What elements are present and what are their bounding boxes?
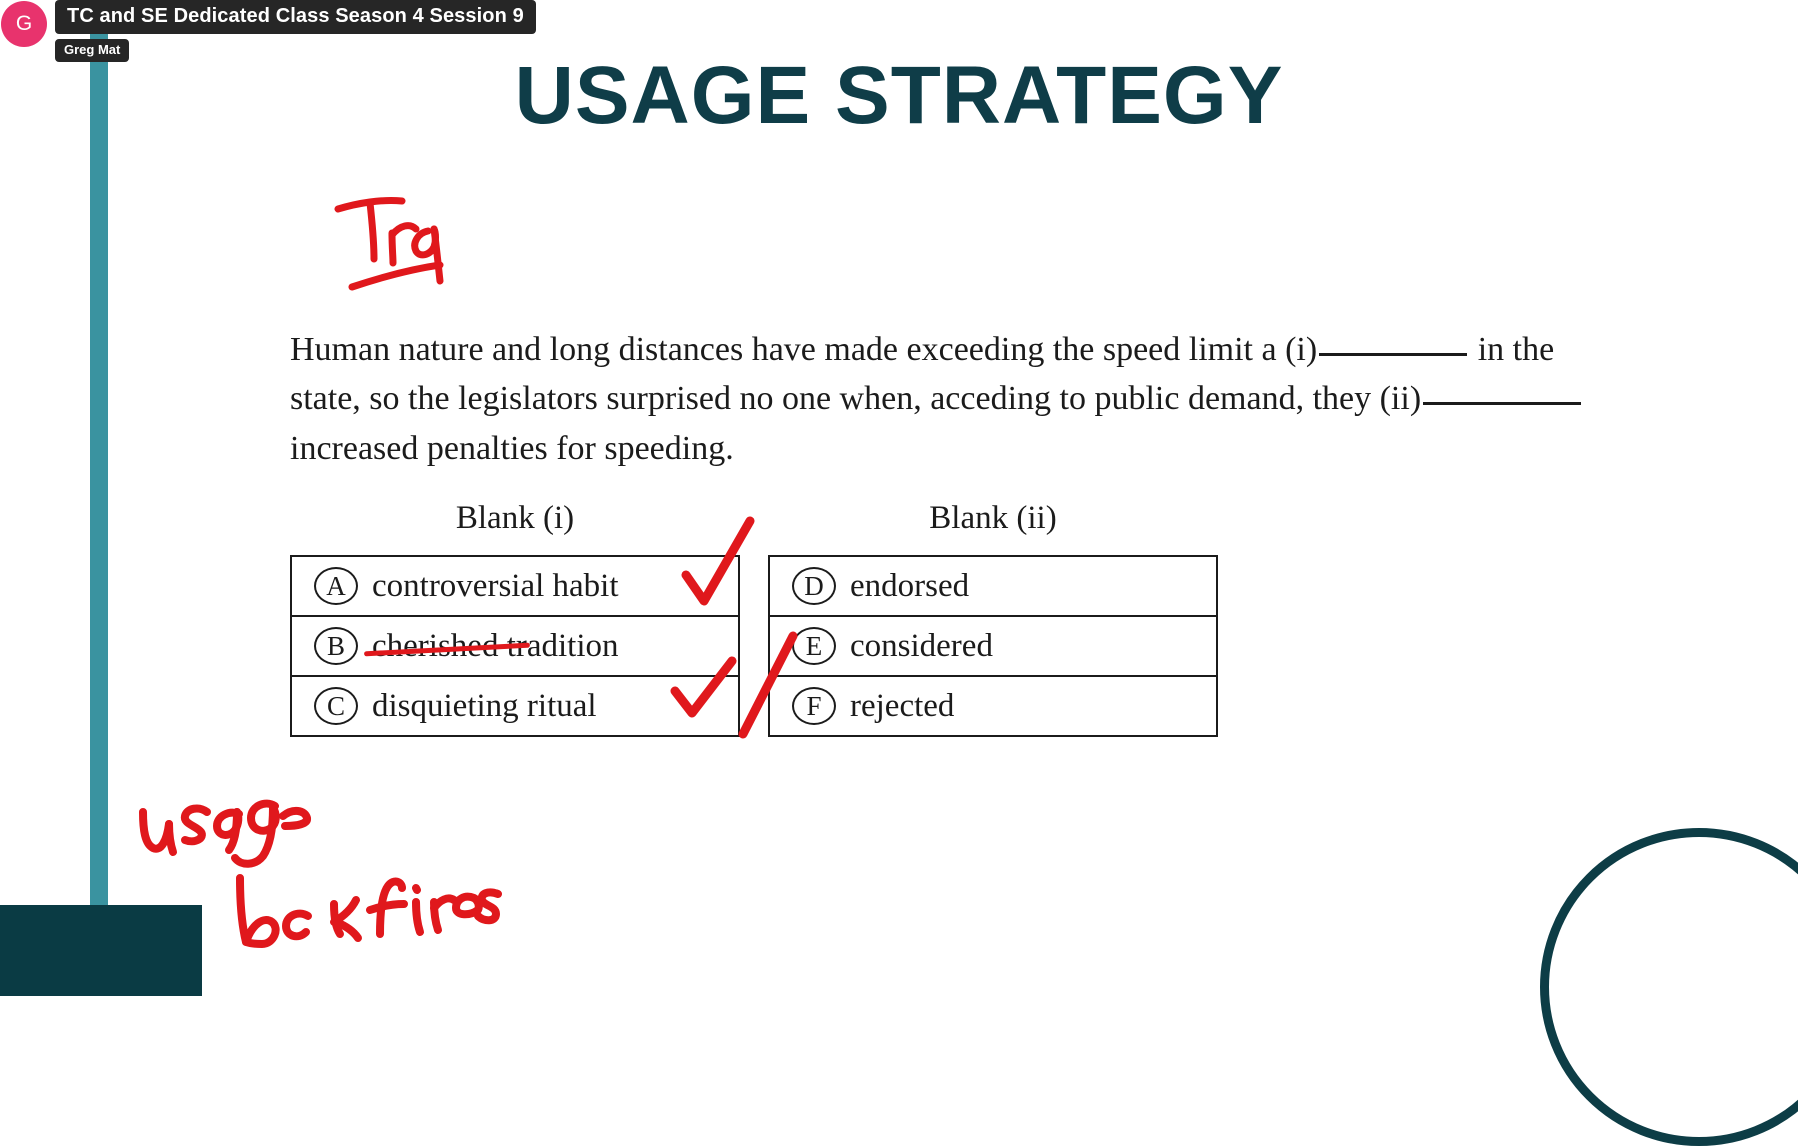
column-header-blank-i: Blank (i) — [290, 500, 740, 537]
answer-column-blank-ii: Blank (ii) D endorsed E considered F rej… — [768, 500, 1218, 737]
answer-table-blank-i: A controversial habit B cherished tradit… — [290, 555, 740, 737]
page-title: USAGE STRATEGY — [0, 55, 1798, 137]
answer-option-a[interactable]: A controversial habit — [292, 557, 738, 617]
option-text-d: endorsed — [850, 568, 969, 605]
option-text-f: rejected — [850, 688, 954, 725]
column-header-blank-ii: Blank (ii) — [768, 500, 1218, 537]
presenter-overlay: G TC and SE Dedicated Class Season 4 Ses… — [0, 0, 536, 62]
question-passage: Human nature and long distances have mad… — [290, 325, 1600, 473]
blank-ii-rule — [1423, 402, 1581, 405]
answer-option-e[interactable]: E considered — [770, 617, 1216, 677]
option-text-b: cherished tradition — [372, 628, 619, 665]
presenter-info-column: TC and SE Dedicated Class Season 4 Sessi… — [55, 0, 536, 62]
answer-table-blank-ii: D endorsed E considered F rejected — [768, 555, 1218, 737]
answer-option-c[interactable]: C disquieting ritual — [292, 677, 738, 735]
answer-option-b[interactable]: B cherished tradition — [292, 617, 738, 677]
presenter-name-chip: Greg Mat — [55, 39, 129, 62]
option-letter-bubble-a: A — [314, 567, 358, 605]
passage-part-1: Human nature and long distances have mad… — [290, 331, 1317, 368]
option-text-a: controversial habit — [372, 568, 619, 605]
option-letter-bubble-f: F — [792, 687, 836, 725]
answer-option-f[interactable]: F rejected — [770, 677, 1216, 735]
avatar[interactable]: G — [1, 1, 47, 47]
option-text-e: considered — [850, 628, 993, 665]
passage-part-3: increased penalties for speeding. — [290, 430, 734, 467]
session-title-chip: TC and SE Dedicated Class Season 4 Sessi… — [55, 0, 536, 34]
option-text-c: disquieting ritual — [372, 688, 597, 725]
answer-column-blank-i: Blank (i) A controversial habit B cheris… — [290, 500, 740, 737]
answer-option-d[interactable]: D endorsed — [770, 557, 1216, 617]
slide-canvas: USAGE STRATEGY Human nature and long dis… — [0, 0, 1798, 996]
option-letter-bubble-c: C — [314, 687, 358, 725]
blank-i-rule — [1319, 353, 1467, 356]
option-letter-bubble-d: D — [792, 567, 836, 605]
option-letter-bubble-e: E — [792, 627, 836, 665]
option-letter-bubble-b: B — [314, 627, 358, 665]
